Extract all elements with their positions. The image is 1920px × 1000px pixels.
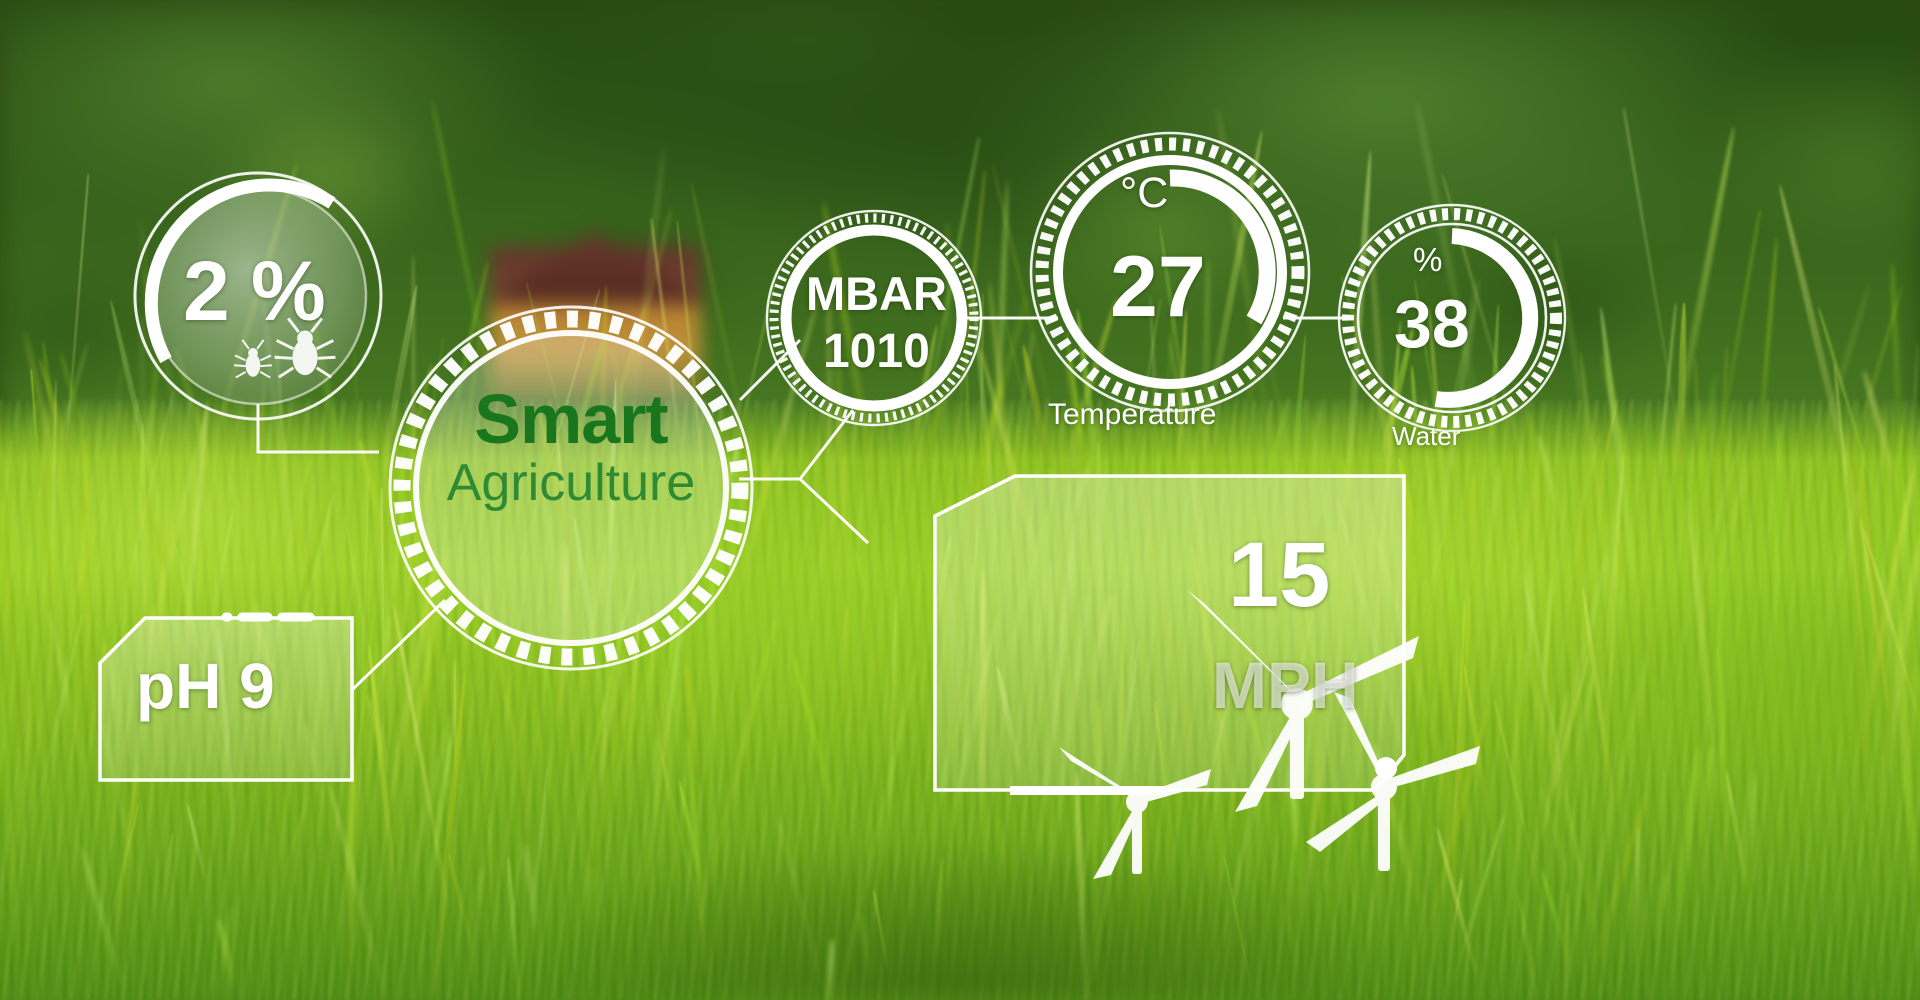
hud-vector-layer [0,0,1920,1000]
connector-wind [739,479,868,543]
temperature-gauge[interactable] [1031,133,1309,411]
ph-panel-fill [100,618,352,780]
connector-ph [352,600,445,690]
pressure-gauge-outer-ring [767,211,981,425]
temperature-gauge-ring [1058,160,1282,384]
ph-panel[interactable] [100,617,352,780]
connector-pest [258,404,379,452]
brand-circle[interactable] [390,307,752,669]
pressure-gauge-ring [786,230,962,406]
pressure-gauge-ticks [774,218,974,418]
wind-panel[interactable] [935,476,1480,879]
water-gauge-arc [1436,236,1530,400]
pressure-gauge[interactable] [767,211,981,425]
wind-panel-fill [935,476,1404,790]
pest-gauge[interactable] [135,173,381,419]
water-gauge-inner-ring [1358,224,1546,412]
hud-overlay: 2 % MBAR 1010 °C 27 Temperature % 38 Wat… [0,0,1920,1000]
water-gauge[interactable] [1339,205,1565,431]
smart-agriculture-infographic: 2 % MBAR 1010 °C 27 Temperature % 38 Wat… [0,0,1920,1000]
